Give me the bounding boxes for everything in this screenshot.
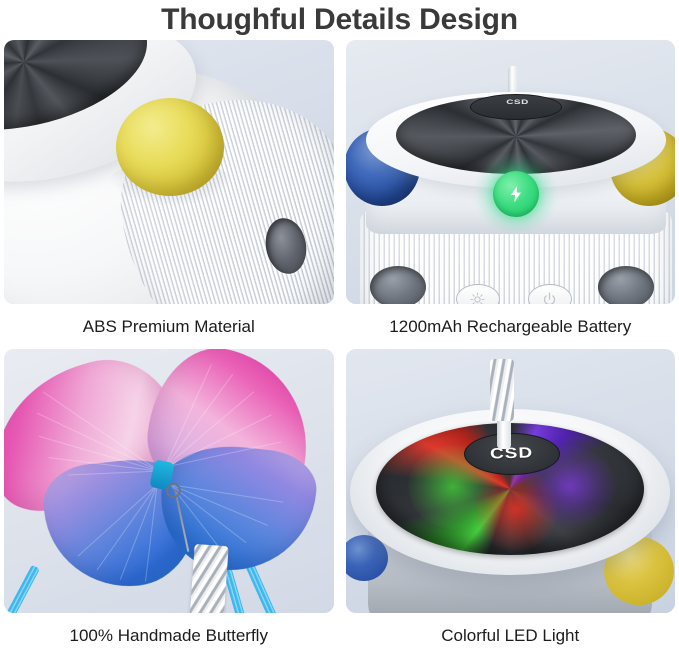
yellow-ball bbox=[116, 98, 224, 196]
feature-cell-abs-material: ABS Premium Material bbox=[4, 40, 334, 349]
toy-dome-cap bbox=[470, 94, 562, 120]
feature-caption-butterfly: 100% Handmade Butterfly bbox=[4, 613, 334, 658]
feature-image-abs-material bbox=[4, 40, 334, 304]
metal-spring bbox=[490, 359, 514, 421]
power-button[interactable] bbox=[528, 284, 572, 304]
feature-caption-battery: 1200mAh Rechargeable Battery bbox=[346, 304, 676, 349]
toy-side-hole-left bbox=[370, 266, 426, 304]
page-title-bar: Thoughful Details Design bbox=[0, 0, 679, 40]
charging-indicator bbox=[493, 171, 539, 217]
feature-caption-led: Colorful LED Light bbox=[346, 613, 676, 658]
feature-caption-abs-material: ABS Premium Material bbox=[4, 304, 334, 349]
product-feature-infographic: Thoughful Details Design ABS Premium Mat… bbox=[0, 0, 679, 662]
toy-side-hole-right bbox=[598, 266, 654, 304]
power-icon bbox=[542, 292, 557, 305]
brand-logo-csd: CSD bbox=[492, 99, 544, 106]
feature-grid: ABS Premium Material CSD bbox=[0, 40, 679, 662]
toy-unit: CSD bbox=[352, 66, 676, 304]
metal-spring bbox=[189, 544, 228, 613]
lightning-bolt-icon bbox=[506, 184, 526, 204]
butterfly-attachment-ring bbox=[166, 483, 181, 498]
feature-cell-led: CSD Colorful LED Light bbox=[346, 349, 676, 658]
light-mode-button[interactable] bbox=[456, 284, 500, 304]
feature-cell-battery: CSD bbox=[346, 40, 676, 349]
brand-logo-csd: CSD bbox=[490, 445, 534, 463]
feature-cell-butterfly: 100% Handmade Butterfly bbox=[4, 349, 334, 658]
feature-image-led: CSD bbox=[346, 349, 676, 613]
feature-image-butterfly bbox=[4, 349, 334, 613]
feature-image-battery: CSD bbox=[346, 40, 676, 304]
toy-dome-cap: CSD bbox=[464, 433, 560, 475]
page-title: Thoughful Details Design bbox=[161, 3, 518, 37]
light-mode-icon bbox=[470, 292, 485, 305]
